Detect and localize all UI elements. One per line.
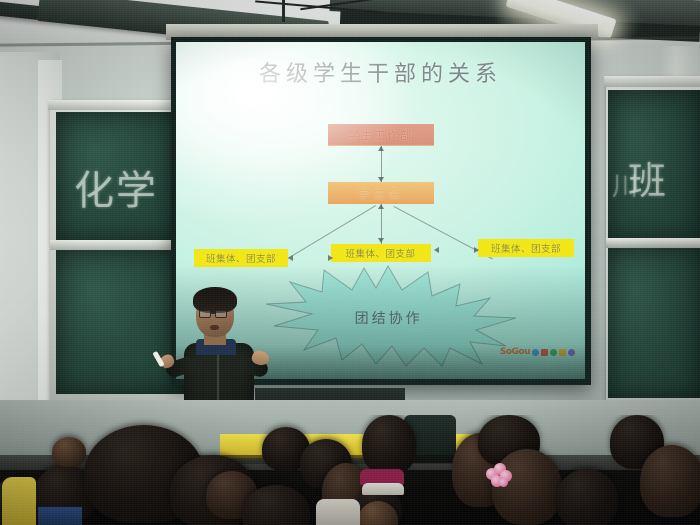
arrowhead-up-1 <box>378 146 384 151</box>
watermark-dot-green <box>550 349 557 356</box>
blackboard-left-lower-panel <box>56 250 184 394</box>
classroom-photo: 化学 川 班 各级学生干部的关系 学生工作部 学生会 班集体、团支部 班集体、团… <box>0 0 700 525</box>
slide-title: 各级学生干部的关系 <box>176 56 585 88</box>
starburst-label: 团结协作 <box>260 308 518 328</box>
ceiling-hanger <box>282 0 285 22</box>
org-node-top: 学生工作部 <box>328 124 434 146</box>
starburst-shape: 团结协作 <box>260 264 518 368</box>
watermark-square-yellow <box>559 349 566 356</box>
audience-head <box>52 437 86 467</box>
arrowhead-left-1 <box>288 255 293 261</box>
watermark-dot-purple <box>568 349 575 356</box>
audience-headband-white <box>362 483 404 495</box>
org-node-middle: 学生会 <box>328 182 434 204</box>
watermark-square-red <box>541 349 548 356</box>
glasses-lens-left-icon <box>199 310 211 318</box>
watermark-dot-blue <box>532 349 539 356</box>
chalk-text-left: 化学 <box>74 158 158 216</box>
arrowhead-right-1 <box>328 255 333 261</box>
audience-blue-seatback <box>38 507 82 525</box>
arrowhead-right-2 <box>474 247 479 253</box>
blackboard-left-mid-rail <box>50 240 190 250</box>
blackboard-right-mid-rail <box>606 238 700 248</box>
audience-head <box>640 445 700 517</box>
presenter-mouth <box>210 325 219 330</box>
glasses-lens-right-icon <box>215 310 227 318</box>
audience-head <box>492 449 562 525</box>
audience-head <box>362 415 416 475</box>
pink-flower-hair-clip-icon <box>486 463 512 487</box>
audience-head <box>556 469 618 525</box>
org-node-branch-2: 班集体、团支部 <box>331 244 431 262</box>
audience-yellow-sleeve <box>2 477 36 525</box>
audience-white-top <box>316 499 360 525</box>
arrowhead-up-2 <box>378 204 384 209</box>
audience-group <box>0 415 700 525</box>
chalk-text-right: 班 <box>628 150 668 205</box>
org-node-branch-3: 班集体、团支部 <box>478 239 574 257</box>
blackboard-right-lower-panel <box>608 248 700 398</box>
sogou-watermark: SoGou <box>500 347 575 357</box>
arrowhead-down-2 <box>378 238 384 243</box>
arrowhead-left-2 <box>434 247 439 253</box>
glasses-bridge-icon <box>211 313 216 314</box>
watermark-text: SoGou <box>500 347 530 357</box>
blackboard-right-top-rail <box>604 76 700 87</box>
